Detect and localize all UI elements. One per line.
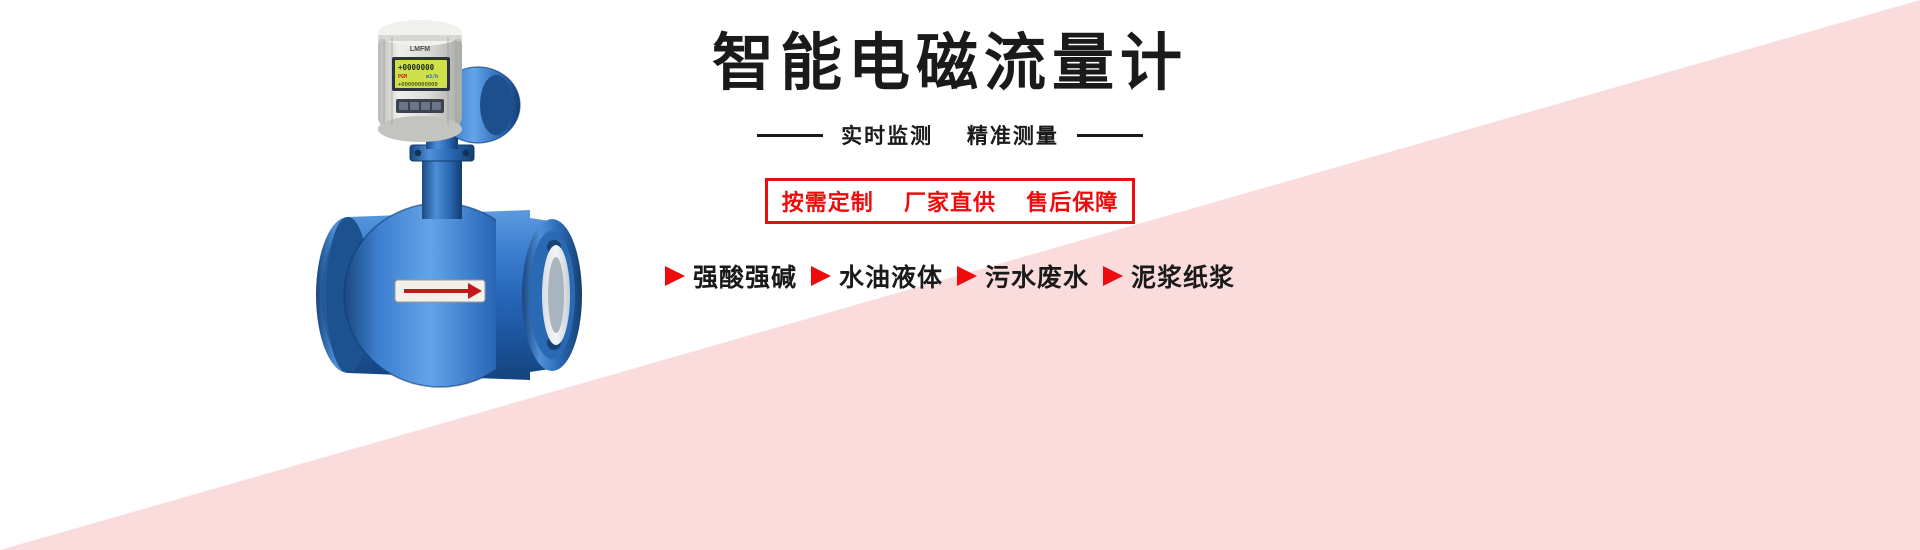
arrow-right-icon — [957, 266, 977, 286]
keypad — [396, 99, 444, 113]
banner-content: 智能电磁流量计 实时监测 精准测量 按需定制 厂家直供 售后保障 强酸强碱 — [640, 30, 1260, 380]
flowmeter-converter: LMFM +0000000 PGM m3/h +00000000000 — [378, 20, 520, 143]
svg-text:+00000000000: +00000000000 — [398, 82, 438, 88]
feature-item: 水油液体 — [811, 258, 943, 294]
arrow-right-icon — [1103, 266, 1123, 286]
page-title: 智能电磁流量计 — [640, 30, 1260, 98]
feature-item: 污水废水 — [957, 258, 1089, 294]
promo-item-c: 售后保障 — [1026, 190, 1118, 215]
feature-label: 水油液体 — [839, 258, 943, 294]
subtitle-text: 实时监测 精准测量 — [841, 120, 1059, 150]
flowmeter-illustration: LMFM +0000000 PGM m3/h +00000000000 — [300, 5, 630, 445]
subtitle-text-a: 实时监测 — [841, 125, 933, 148]
feature-label: 强酸强碱 — [693, 258, 797, 294]
promo-box: 按需定制 厂家直供 售后保障 — [765, 178, 1135, 224]
subtitle-rule-right — [1077, 134, 1143, 137]
feature-list: 强酸强碱 水油液体 污水废水 泥浆纸浆 — [640, 258, 1260, 294]
svg-text:m3/h: m3/h — [426, 74, 438, 80]
flow-arrow-plate — [395, 280, 485, 302]
promo-text: 按需定制 厂家直供 售后保障 — [782, 185, 1119, 217]
promo-item-a: 按需定制 — [782, 190, 874, 215]
promo-item-b: 厂家直供 — [904, 190, 996, 215]
feature-item: 强酸强碱 — [665, 258, 797, 294]
feature-label: 泥浆纸浆 — [1131, 258, 1235, 294]
svg-text:LMFM: LMFM — [410, 46, 430, 53]
svg-text:PGM: PGM — [398, 74, 407, 80]
product-banner: LMFM +0000000 PGM m3/h +00000000000 智能电磁… — [0, 0, 1920, 550]
subtitle-rule-left — [757, 134, 823, 137]
lcd-display: +0000000 PGM m3/h +00000000000 — [392, 57, 450, 91]
svg-text:+0000000: +0000000 — [398, 63, 435, 72]
arrow-right-icon — [811, 266, 831, 286]
feature-label: 污水废水 — [985, 258, 1089, 294]
subtitle-row: 实时监测 精准测量 — [640, 120, 1260, 150]
feature-item: 泥浆纸浆 — [1103, 258, 1235, 294]
arrow-right-icon — [665, 266, 685, 286]
subtitle-text-b: 精准测量 — [967, 125, 1059, 148]
flowmeter-body — [316, 203, 582, 387]
